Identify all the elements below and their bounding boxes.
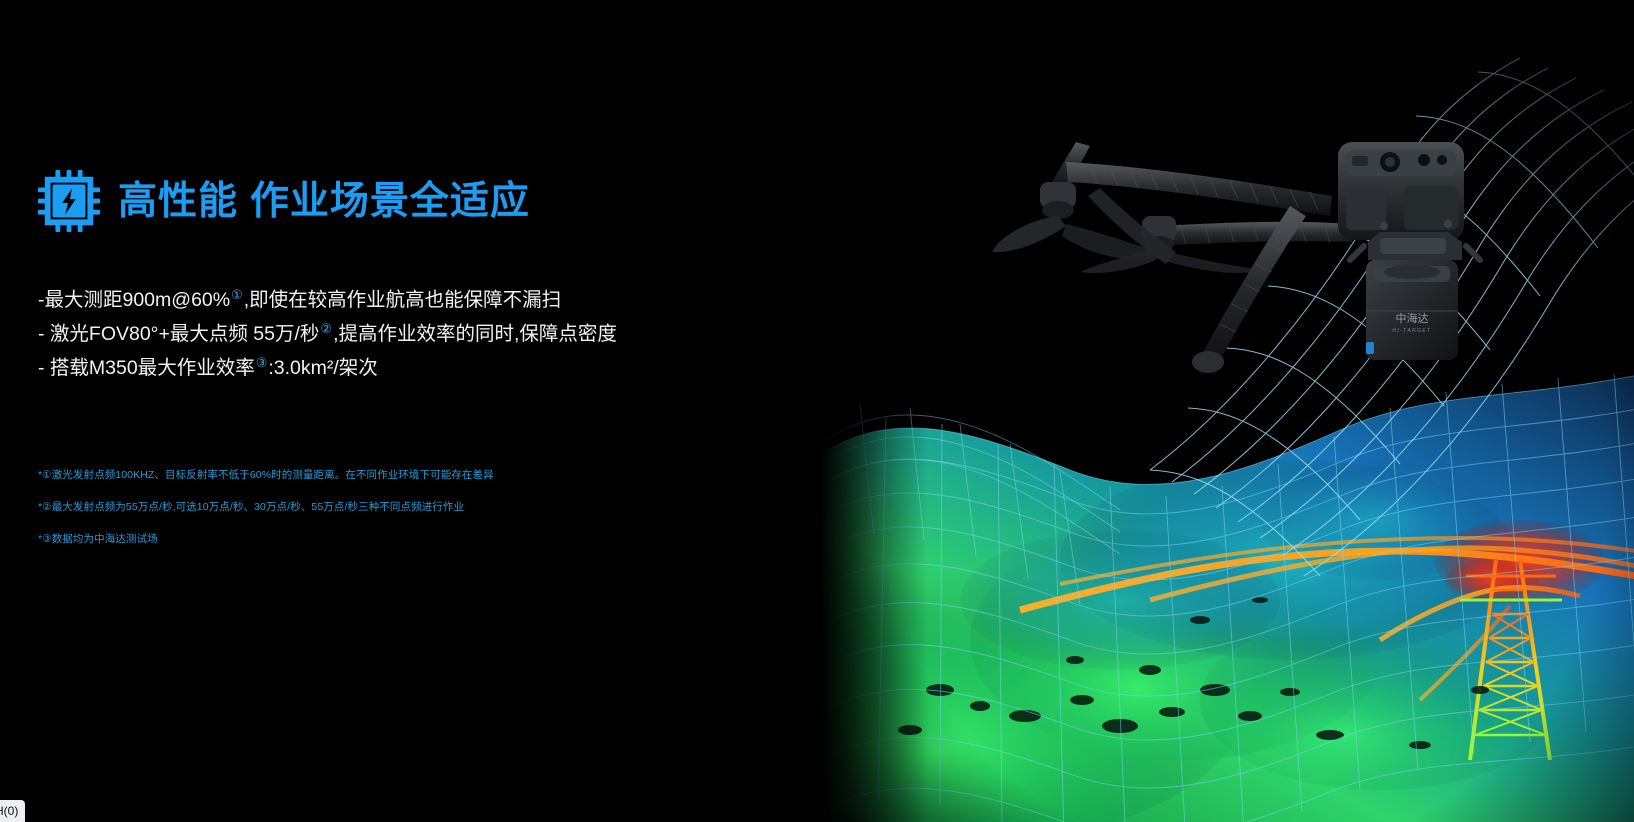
- footnote-item: *①激光发射点频100KHZ、目标反射率不低于60%时的测量距离。在不同作业环境…: [38, 459, 778, 491]
- footnote-marker-1: ①: [230, 287, 244, 302]
- footnote-marker-3: ③: [255, 355, 269, 370]
- payload-brand-label: 中海达: [1396, 311, 1429, 325]
- cpu-chip-lightning-icon: [38, 170, 100, 232]
- bullet-tail-text: ,提高作业效率的同时,保障点密度: [333, 323, 617, 345]
- status-chip[interactable]: H(0): [0, 800, 25, 822]
- bullet-lead-text: - 激光FOV80°+最大点频 55万/秒: [38, 323, 319, 345]
- copy-column: 高性能 作业场景全适应 -最大测距900m@60%①,即使在较高作业航高也能保障…: [0, 0, 820, 822]
- bullet-lead-text: - 搭载M350最大作业效率: [38, 357, 255, 379]
- slide-canvas: 中海达 HI-TARGET: [0, 0, 1634, 822]
- payload-sub-label: HI-TARGET: [1392, 328, 1431, 334]
- footnote-list: *①激光发射点频100KHZ、目标反射率不低于60%时的测量距离。在不同作业环境…: [38, 459, 778, 555]
- drone-fuselage: [1338, 142, 1464, 240]
- artwork-illustration: 中海达 HI-TARGET: [820, 0, 1634, 822]
- footnote-item: *③数据均为中海达测试场: [38, 523, 778, 555]
- footnote-item: *②最大发射点频为55万点/秒,可选10万点/秒、30万点/秒、55万点/秒三种…: [38, 491, 778, 523]
- bullet-tail-text: ,即使在较高作业航高也能保障不漏扫: [244, 289, 561, 311]
- feature-bullet-list: -最大测距900m@60%①,即使在较高作业航高也能保障不漏扫 - 激光FOV8…: [38, 283, 758, 385]
- lidar-payload: 中海达 HI-TARGET: [1366, 260, 1458, 360]
- lidar-terrain-point-cloud: [820, 0, 1634, 822]
- bullet-tail-text: :3.0km²/架次: [268, 357, 377, 379]
- bullet-lead-text: -最大测距900m@60%: [38, 289, 230, 311]
- page-title: 高性能 作业场景全适应: [118, 182, 530, 221]
- footnote-marker-2: ②: [319, 321, 333, 336]
- headline-block: 高性能 作业场景全适应: [38, 170, 530, 232]
- feature-bullet: - 搭载M350最大作业效率③:3.0km²/架次: [38, 351, 758, 385]
- artwork-panel: 中海达 HI-TARGET: [820, 0, 1634, 822]
- feature-bullet: -最大测距900m@60%①,即使在较高作业航高也能保障不漏扫: [38, 283, 758, 317]
- feature-bullet: - 激光FOV80°+最大点频 55万/秒②,提高作业效率的同时,保障点密度: [38, 317, 758, 351]
